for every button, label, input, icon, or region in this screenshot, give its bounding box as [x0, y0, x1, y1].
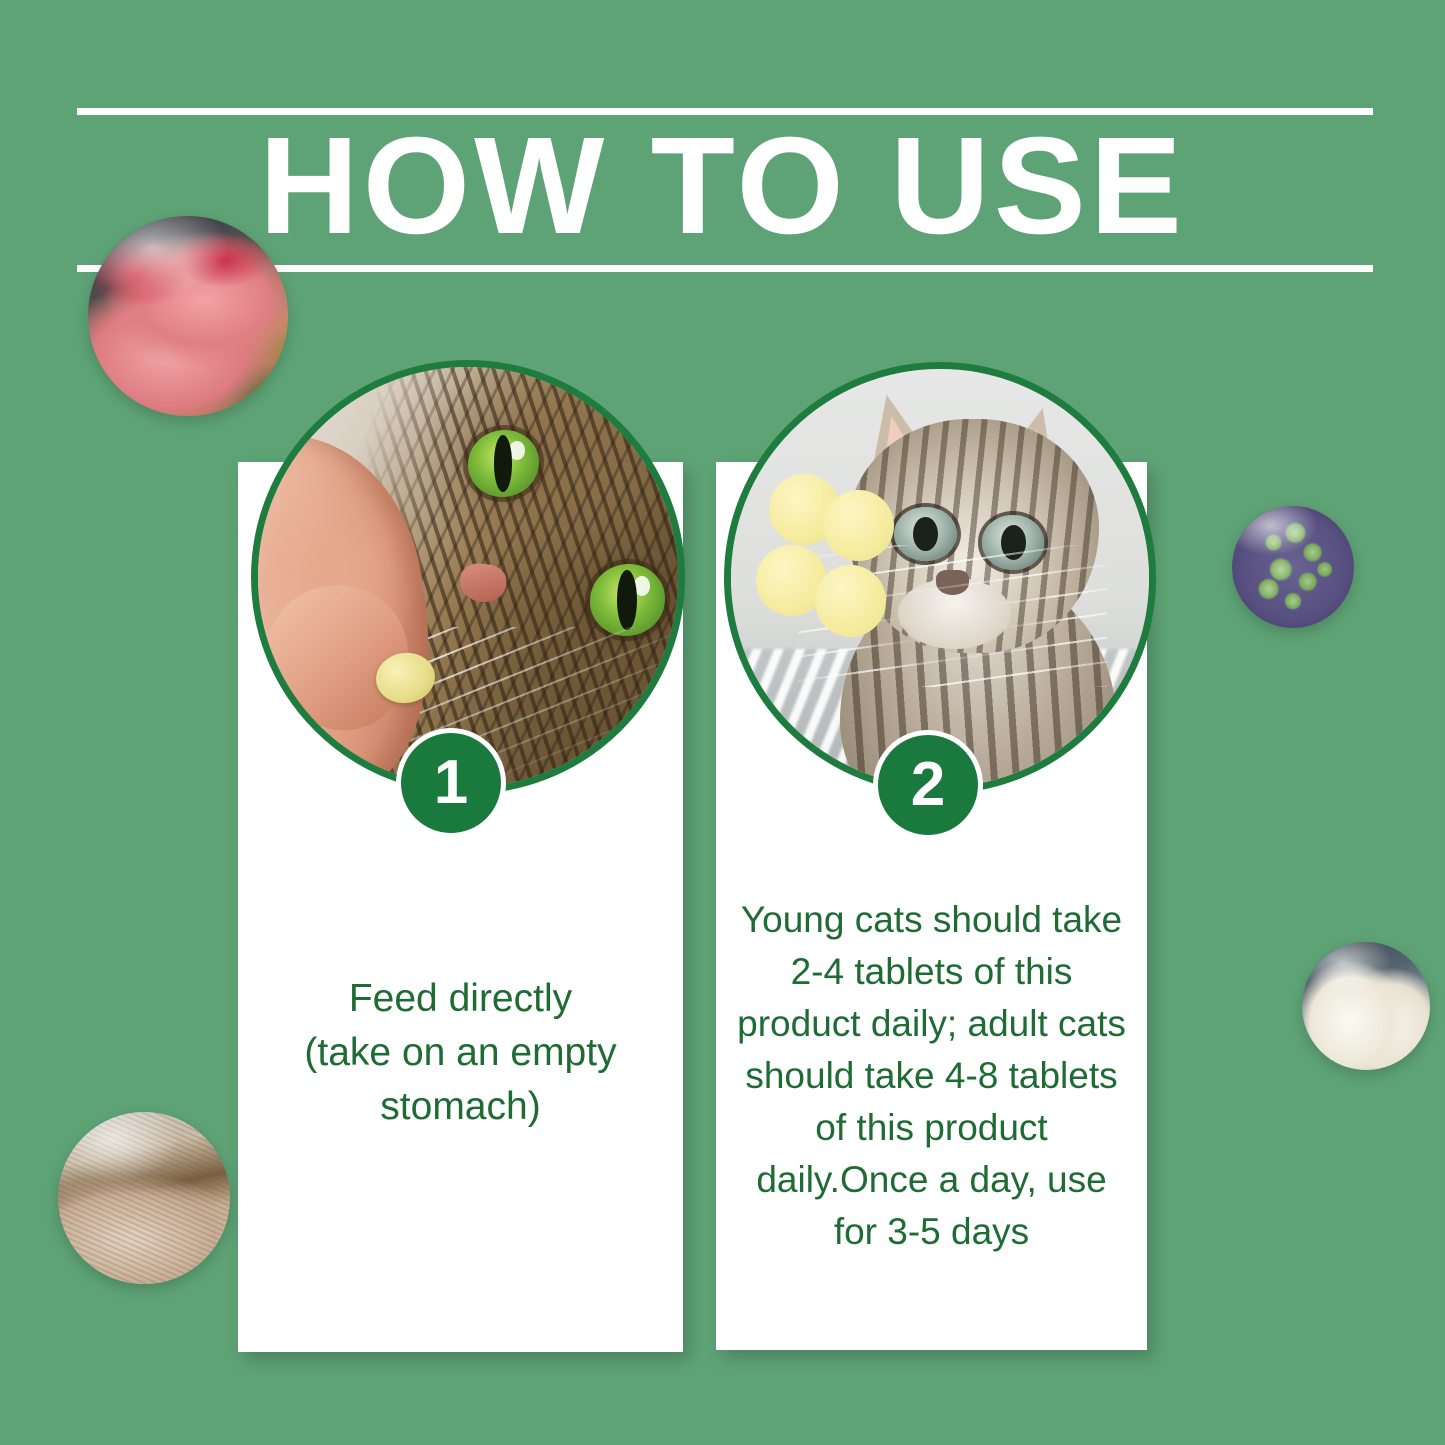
step-2-photo — [724, 362, 1156, 794]
eye-glint — [634, 576, 651, 596]
kitten-tablets-photo — [731, 369, 1149, 787]
poster-canvas: HOW TO USE Feed directly (take on an emp… — [0, 0, 1445, 1445]
cat-pill-photo — [258, 367, 678, 787]
powder-image — [1302, 942, 1430, 1070]
ingredient-bubble-grain — [58, 1112, 230, 1284]
tablet-icon — [815, 565, 886, 636]
ingredient-bubble-powder — [1302, 942, 1430, 1070]
step-2-caption: Young cats should take 2-4 tablets of th… — [734, 894, 1129, 1258]
step-badge-2: 2 — [873, 730, 983, 840]
ingredient-bubble-probiotic-cells — [1232, 506, 1354, 628]
grain-image — [58, 1112, 230, 1284]
probiotic-cells-image — [1232, 506, 1354, 628]
step-badge-1: 1 — [396, 728, 506, 838]
step-1-caption: Feed directly (take on an empty stomach) — [256, 972, 665, 1134]
step-1-photo — [251, 360, 685, 794]
eye-glint — [509, 441, 525, 460]
tablet-icon — [823, 490, 894, 561]
